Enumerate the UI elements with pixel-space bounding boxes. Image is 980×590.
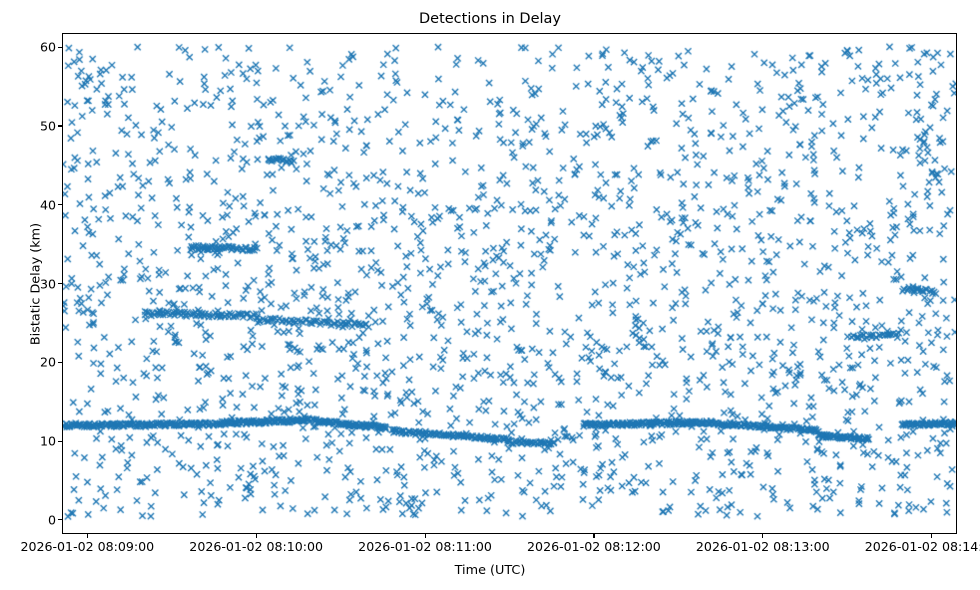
x-tick-mark bbox=[425, 534, 426, 538]
x-tick-mark bbox=[931, 534, 932, 538]
y-tick-label: 10 bbox=[10, 435, 56, 448]
y-tick-label: 0 bbox=[10, 513, 56, 526]
x-tick-label: 2026-01-02 08:14:00 bbox=[865, 540, 980, 554]
x-tick-label: 2026-01-02 08:13:00 bbox=[696, 540, 830, 554]
plot-area[interactable] bbox=[62, 33, 957, 534]
y-axis-label-wrapper: Bistatic Delay (km) bbox=[0, 33, 1, 534]
x-tick-mark bbox=[87, 534, 88, 538]
x-tick-mark bbox=[762, 534, 763, 538]
y-tick-label: 20 bbox=[10, 356, 56, 369]
y-tick-label: 30 bbox=[10, 277, 56, 290]
scatter-plot-canvas bbox=[63, 34, 956, 533]
y-tick-label: 50 bbox=[10, 119, 56, 132]
y-tick-label: 60 bbox=[10, 41, 56, 54]
figure-canvas: Detections in Delay Bistatic Delay (km) … bbox=[0, 0, 980, 590]
x-tick-label: 2026-01-02 08:09:00 bbox=[20, 540, 154, 554]
y-tick-label: 40 bbox=[10, 198, 56, 211]
x-axis-label: Time (UTC) bbox=[0, 563, 980, 578]
x-tick-mark bbox=[256, 534, 257, 538]
x-tick-label: 2026-01-02 08:12:00 bbox=[527, 540, 661, 554]
x-tick-mark bbox=[593, 534, 594, 538]
x-tick-label: 2026-01-02 08:10:00 bbox=[189, 540, 323, 554]
x-tick-label: 2026-01-02 08:11:00 bbox=[358, 540, 492, 554]
chart-title: Detections in Delay bbox=[0, 10, 980, 28]
